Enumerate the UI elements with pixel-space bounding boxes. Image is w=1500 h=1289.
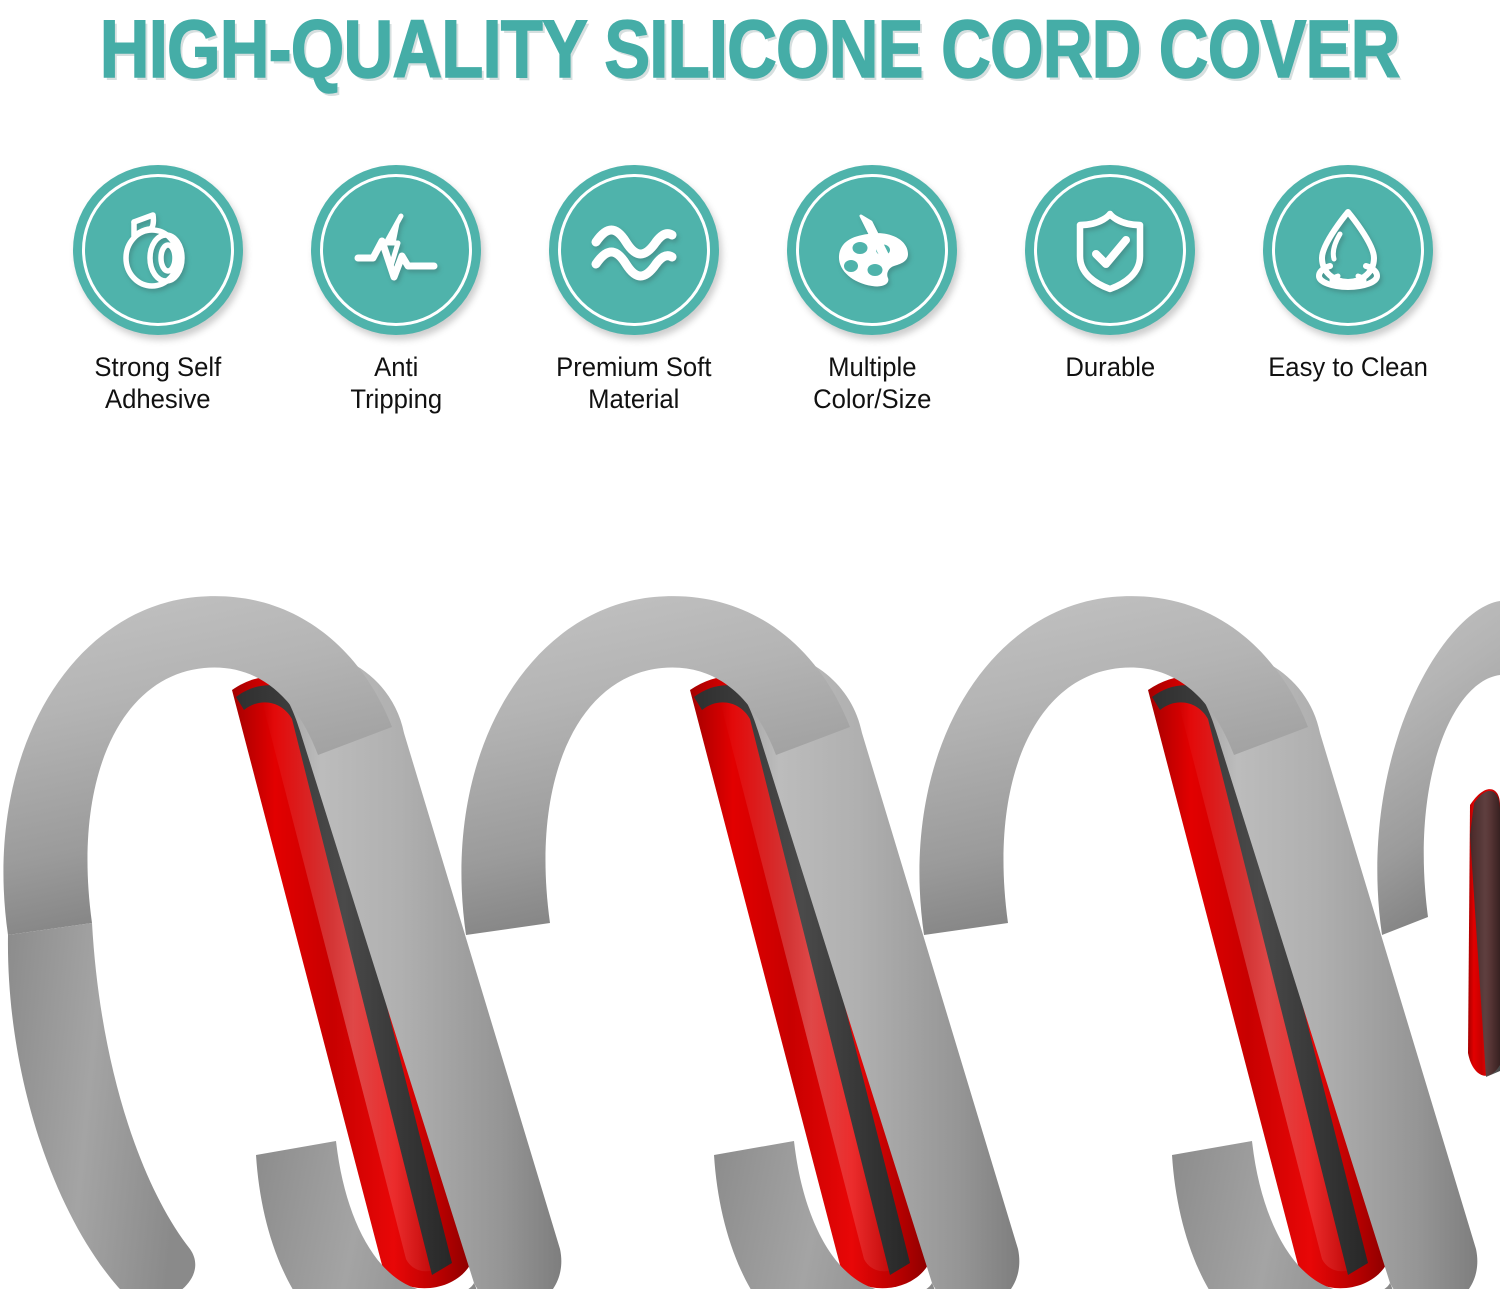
feature-label: Premium Soft Material (556, 352, 711, 416)
feature-item-anti-tripping: Anti Tripping (296, 165, 496, 416)
feature-item-easy-to-clean: Easy to Clean (1248, 165, 1448, 384)
feature-badge (311, 165, 481, 335)
wavy-lines-icon (582, 198, 686, 302)
feature-label: Durable (1065, 352, 1155, 384)
feature-badge (1263, 165, 1433, 335)
product-photo (0, 505, 1500, 1289)
page-title-bar: HIGH-QUALITY SILICONE CORD COVER (0, 0, 1500, 100)
paint-palette-icon (820, 198, 924, 302)
feature-badge (549, 165, 719, 335)
feature-item-multiple-color-size: Multiple Color/Size (772, 165, 972, 416)
shield-check-icon (1058, 198, 1162, 302)
feature-label: Multiple Color/Size (813, 352, 931, 416)
feature-badge (787, 165, 957, 335)
page-title: HIGH-QUALITY SILICONE CORD COVER (100, 9, 1400, 91)
feature-item-premium-soft-material: Premium Soft Material (534, 165, 734, 416)
feature-list: Strong Self Adhesive Anti Tripping (58, 165, 1448, 416)
feature-label: Anti Tripping (350, 352, 442, 416)
feature-badge (73, 165, 243, 335)
water-drop-icon (1296, 198, 1400, 302)
lightning-pulse-icon (344, 198, 448, 302)
feature-label: Strong Self Adhesive (95, 352, 222, 416)
feature-item-strong-self-adhesive: Strong Self Adhesive (58, 165, 258, 416)
tape-roll-icon (106, 198, 210, 302)
feature-item-durable: Durable (1010, 165, 1210, 384)
product-marketing-image: HIGH-QUALITY SILICONE CORD COVER Strong … (0, 0, 1500, 1289)
feature-label: Easy to Clean (1268, 352, 1428, 384)
coiled-cord-cover-illustration (0, 505, 1500, 1289)
feature-badge (1025, 165, 1195, 335)
